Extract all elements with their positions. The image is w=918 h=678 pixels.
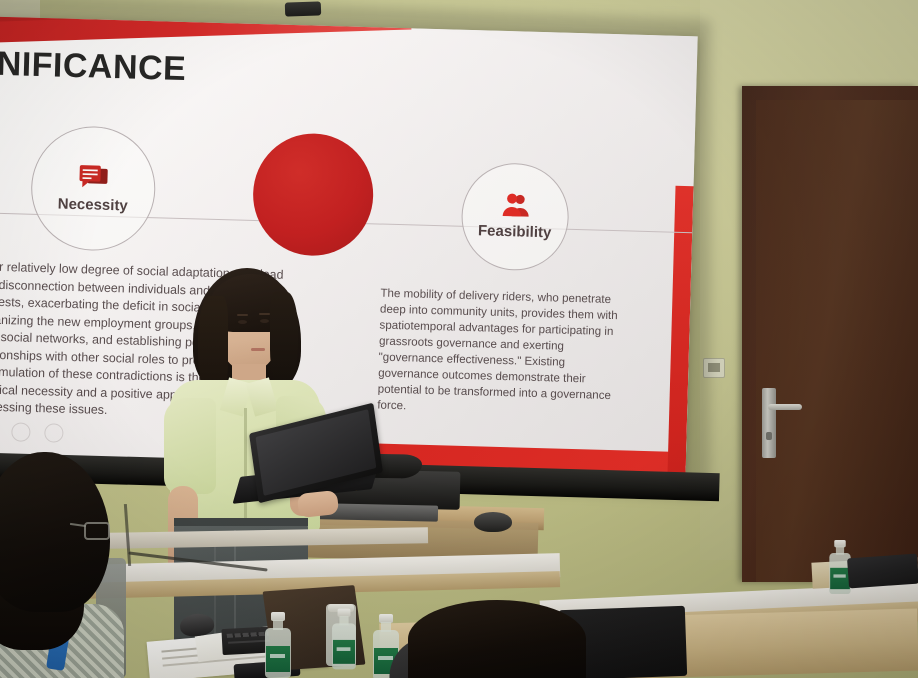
door-handle-plate xyxy=(762,388,776,458)
door-handle-icon[interactable] xyxy=(768,404,802,410)
two-people-icon xyxy=(500,193,531,218)
page-title: SIGNIFICANCE xyxy=(0,43,187,89)
watermark-circle-icon xyxy=(11,422,31,442)
door-lock-icon xyxy=(766,432,772,440)
presenter-eye-left xyxy=(238,320,247,324)
chat-bubbles-icon xyxy=(77,164,110,191)
diagram-node-necessity[interactable]: Necessity xyxy=(30,125,157,252)
diagram-node-feasibility-label: Feasibility xyxy=(478,222,552,241)
table-laptop[interactable] xyxy=(847,554,918,589)
presenter-eye-right xyxy=(260,319,269,323)
diagram-node-center[interactable] xyxy=(251,132,374,257)
av-mouse xyxy=(474,512,512,532)
presenter-hair-side-right xyxy=(270,292,298,388)
door[interactable] xyxy=(756,100,918,582)
slide-body-text-right: The mobility of delivery riders, who pen… xyxy=(377,286,628,421)
audience-foreground-head xyxy=(408,600,586,678)
presenter-mouth xyxy=(251,348,265,351)
water-bottle xyxy=(331,609,357,670)
presenter-brow-left xyxy=(237,314,248,316)
presenter-hand-right xyxy=(297,490,339,518)
presenter-waistband xyxy=(174,518,308,526)
slide-watermarks xyxy=(0,421,64,442)
presentation-room-photo: SIGNIFICANCE Necessity xyxy=(0,0,918,678)
water-bottle xyxy=(264,612,292,678)
presenter-sleeve-left xyxy=(164,398,216,494)
ceiling-camera xyxy=(285,1,321,16)
presenter-brow-right xyxy=(259,313,270,315)
diagram-node-necessity-label: Necessity xyxy=(58,195,129,214)
presenter-shirt-placket xyxy=(244,408,247,528)
diagram-node-feasibility[interactable]: Feasibility xyxy=(460,162,570,272)
glasses-icon xyxy=(84,522,110,540)
watermark-circle-icon xyxy=(44,423,64,443)
